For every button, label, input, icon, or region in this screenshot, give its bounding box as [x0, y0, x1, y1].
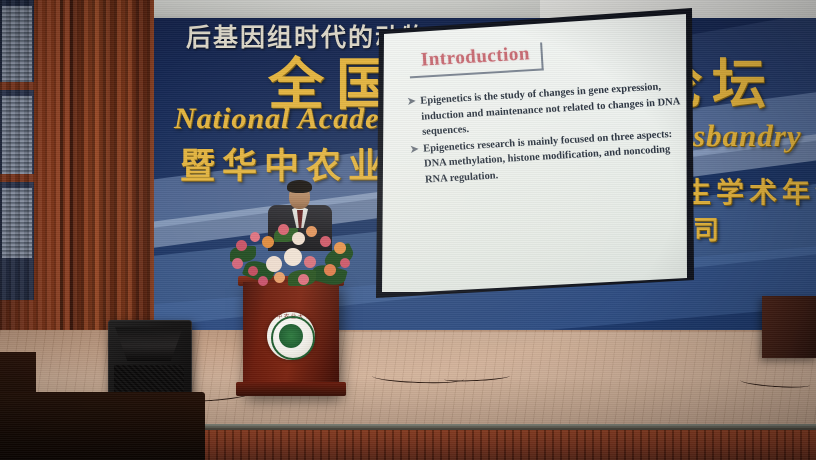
speaker-horn — [115, 327, 183, 361]
bullet-arrow-icon: ➤ — [410, 141, 419, 157]
window-grille — [0, 0, 34, 300]
slide-title-bracket — [540, 42, 544, 70]
side-table — [762, 296, 816, 358]
window-mullion-1 — [0, 82, 34, 90]
podium-base — [236, 382, 346, 396]
window-blind-upper — [2, 6, 32, 82]
university-emblem: 华中农业大学 — [267, 312, 315, 360]
projection-screen: Introduction ➤ Epigenetics is the study … — [380, 12, 688, 292]
window-blind-middle — [2, 96, 32, 174]
emblem-core — [279, 324, 303, 348]
speaker-person-hair — [287, 180, 312, 193]
presentation-slide: Introduction ➤ Epigenetics is the study … — [380, 0, 704, 292]
slide-bullet-list: ➤ Epigenetics is the study of changes in… — [407, 78, 692, 189]
window-blind-lower — [2, 188, 32, 258]
conference-photo: 后基因组时代的动物 全国 National Academ 暨华中农业大 主办 办… — [0, 0, 816, 460]
slide-title: Introduction — [420, 43, 530, 71]
foreground-seat-back — [0, 392, 205, 460]
banner-title-en-left: National Academ — [174, 102, 404, 136]
flower-arrangement — [228, 222, 362, 286]
window-mullion-2 — [0, 174, 34, 182]
bullet-arrow-icon: ➤ — [407, 94, 416, 110]
